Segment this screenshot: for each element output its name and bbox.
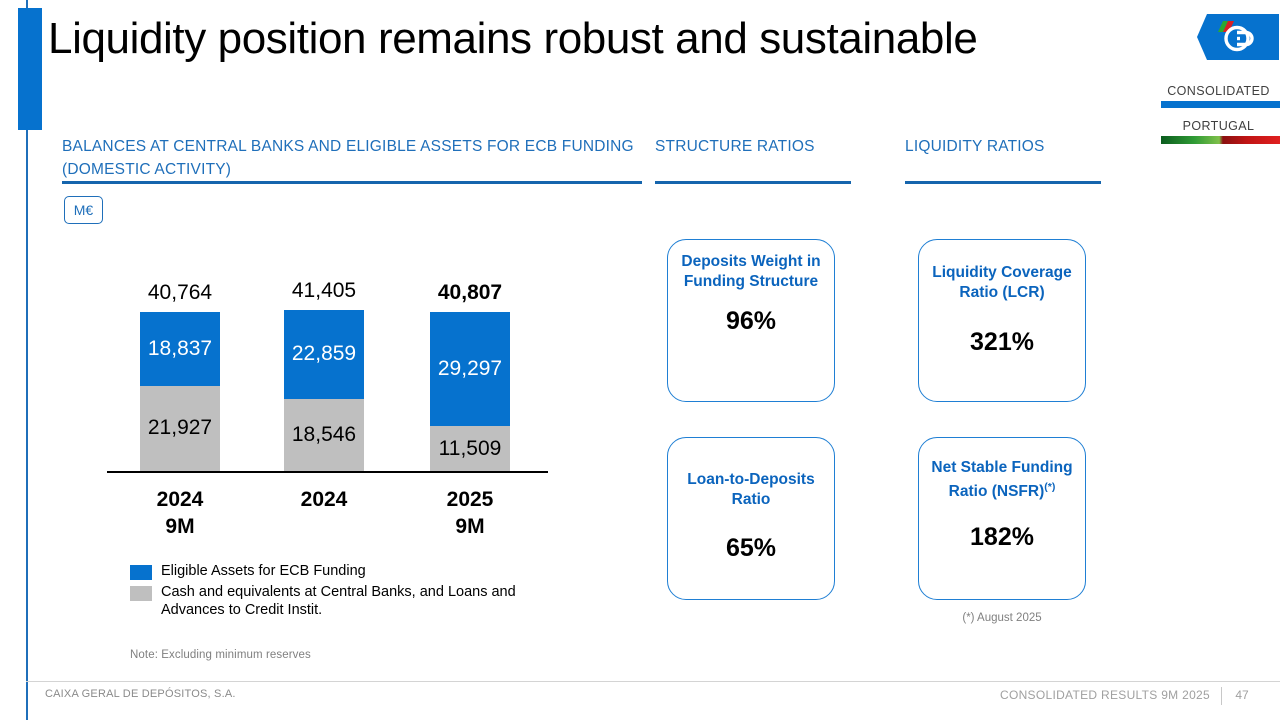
legend-label: Cash and equivalents at Central Banks, a… [161, 583, 580, 620]
bar-segment-cash-equivalents: 21,927 [140, 386, 220, 471]
footer-deck-title: CONSOLIDATED RESULTS 9M 2025 [1000, 688, 1210, 702]
bar-category-period: 9M [120, 513, 240, 540]
footer-divider [26, 681, 1280, 682]
bar-segment-cash-equivalents: 18,546 [284, 399, 364, 471]
bar-segment-eligible-assets: 22,859 [284, 310, 364, 399]
bar-category-label: 2024 [264, 486, 384, 513]
slide-root: Liquidity position remains robust and su… [0, 0, 1280, 720]
bar-segment-cash-equivalents: 11,509 [430, 426, 510, 471]
bar-segment-label: 18,546 [292, 423, 356, 447]
bar-category-year: 2024 [264, 486, 384, 513]
bar-column: 40,80729,29711,50920259M [430, 312, 510, 471]
card-loan-to-deposits-ratio[interactable]: Loan-to-Deposits Ratio 65% [667, 437, 835, 600]
chart-baseline-axis [107, 471, 548, 473]
legend-item: Eligible Assets for ECB Funding [130, 562, 580, 581]
bar-category-label: 20249M [120, 486, 240, 540]
bar-segment-label: 22,859 [292, 342, 356, 366]
card-net-stable-funding-ratio[interactable]: Net Stable Funding Ratio (NSFR)(*) 182% [918, 437, 1086, 600]
tag-consolidated: CONSOLIDATED [1157, 84, 1280, 98]
bar-category-label: 20259M [410, 486, 530, 540]
card-value: 321% [970, 328, 1034, 357]
card-title-text: Net Stable Funding Ratio (NSFR) [931, 459, 1072, 500]
bar-segment-eligible-assets: 29,297 [430, 312, 510, 426]
card-value: 182% [970, 523, 1034, 552]
section-heading-liquidity-ratios: LIQUIDITY RATIOS [905, 136, 1115, 159]
footer-company: CAIXA GERAL DE DEPÓSITOS, S.A. [45, 688, 236, 700]
tag-consolidated-bar [1161, 101, 1280, 108]
stacked-bar-chart: 40,76418,83721,92720249M41,40522,85918,5… [0, 0, 620, 560]
cgd-logo [1197, 14, 1279, 60]
bar-segment-label: 18,837 [148, 337, 212, 361]
bar-segment-eligible-assets: 18,837 [140, 312, 220, 385]
bar-column: 40,76418,83721,92720249M [140, 312, 220, 471]
section-heading-structure-ratios: STRUCTURE RATIOS [655, 136, 865, 159]
legend-item: Cash and equivalents at Central Banks, a… [130, 583, 580, 620]
card-title: Net Stable Funding Ratio (NSFR)(*) [919, 458, 1085, 501]
section-rule-liquidity-ratios [905, 181, 1101, 184]
chart-legend: Eligible Assets for ECB FundingCash and … [130, 562, 580, 622]
legend-label: Eligible Assets for ECB Funding [161, 562, 366, 581]
bar-total-label: 40,807 [410, 281, 530, 305]
bar-category-period: 9M [410, 513, 530, 540]
bar-category-year: 2024 [120, 486, 240, 513]
card-deposits-weight[interactable]: Deposits Weight in Funding Structure 96% [667, 239, 835, 402]
bar-total-label: 40,764 [120, 281, 240, 305]
footnote-marker: (*) [1044, 481, 1055, 493]
card-liquidity-coverage-ratio[interactable]: Liquidity Coverage Ratio (LCR) 321% [918, 239, 1086, 402]
bar-segment-label: 21,927 [148, 416, 212, 440]
cgd-logo-icon [1215, 18, 1261, 56]
card-title: Liquidity Coverage Ratio (LCR) [919, 263, 1085, 302]
card-title: Loan-to-Deposits Ratio [668, 470, 834, 509]
footer-page-number: 47 [1230, 688, 1254, 702]
bar-column: 41,40522,85918,5462024 [284, 310, 364, 471]
portugal-flag-bar [1161, 136, 1280, 144]
card-value: 65% [726, 534, 776, 563]
bar-category-year: 2025 [410, 486, 530, 513]
bar-segment-label: 29,297 [438, 357, 502, 381]
nsfr-footnote: (*) August 2025 [918, 612, 1086, 624]
card-title: Deposits Weight in Funding Structure [668, 252, 834, 291]
card-value: 96% [726, 307, 776, 336]
footer-separator [1221, 687, 1222, 705]
bar-total-label: 41,405 [264, 279, 384, 303]
legend-swatch [130, 586, 152, 601]
bar-segment-label: 11,509 [439, 437, 502, 461]
tag-portugal: PORTUGAL [1157, 119, 1280, 133]
section-rule-structure-ratios [655, 181, 851, 184]
chart-note: Note: Excluding minimum reserves [130, 649, 311, 661]
legend-swatch [130, 565, 152, 580]
